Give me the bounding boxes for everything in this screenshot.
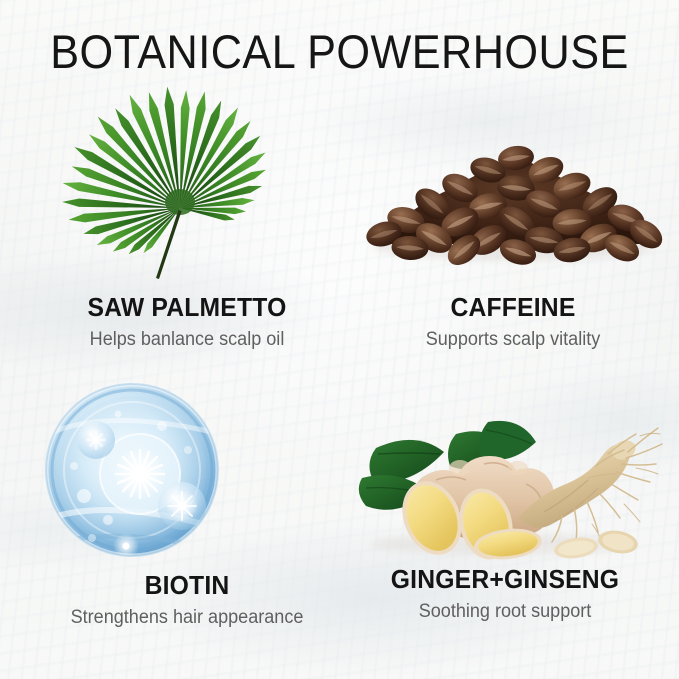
saw-palmetto-image — [22, 96, 352, 291]
saw-palmetto-benefit: Helps banlance scalp oil — [30, 329, 344, 351]
biotin-name: BIOTIN — [30, 570, 344, 601]
page-title: BOTANICAL POWERHOUSE — [27, 28, 652, 75]
ginger-ginseng-name: GINGER+GINSENG — [348, 564, 662, 595]
biotin-benefit: Strengthens hair appearance — [30, 607, 344, 629]
saw-palmetto-name: SAW PALMETTO — [30, 292, 344, 323]
infographic-page: BOTANICAL POWERHOUSE — [0, 0, 679, 679]
caffeine-benefit: Supports scalp vitality — [356, 329, 670, 351]
caffeine-name: CAFFEINE — [356, 292, 670, 323]
ginger-ginseng-image — [340, 408, 670, 568]
caffeine-image — [348, 96, 678, 291]
ingredient-card-saw-palmetto: SAW PALMETTO Helps banlance scalp oil — [22, 96, 352, 291]
biotin-caption: BIOTIN Strengthens hair appearance — [22, 570, 352, 629]
water-droplet-sphere-icon — [22, 378, 352, 568]
ingredient-card-caffeine: CAFFEINE Supports scalp vitality — [348, 96, 678, 291]
ginger-ginseng-caption: GINGER+GINSENG Soothing root support — [340, 564, 670, 623]
caffeine-caption: CAFFEINE Supports scalp vitality — [348, 292, 678, 351]
ginger-ginseng-benefit: Soothing root support — [348, 601, 662, 623]
ingredient-card-biotin: BIOTIN Strengthens hair appearance — [22, 378, 352, 568]
coffee-bean-pile-icon — [348, 96, 678, 291]
biotin-image — [22, 378, 352, 568]
fan-palm-leaf-icon — [22, 96, 352, 291]
ingredient-card-ginger-ginseng: GINGER+GINSENG Soothing root support — [340, 408, 670, 568]
ginger-and-ginseng-icon — [340, 408, 670, 568]
ginseng-slices — [553, 528, 640, 561]
saw-palmetto-caption: SAW PALMETTO Helps banlance scalp oil — [22, 292, 352, 351]
